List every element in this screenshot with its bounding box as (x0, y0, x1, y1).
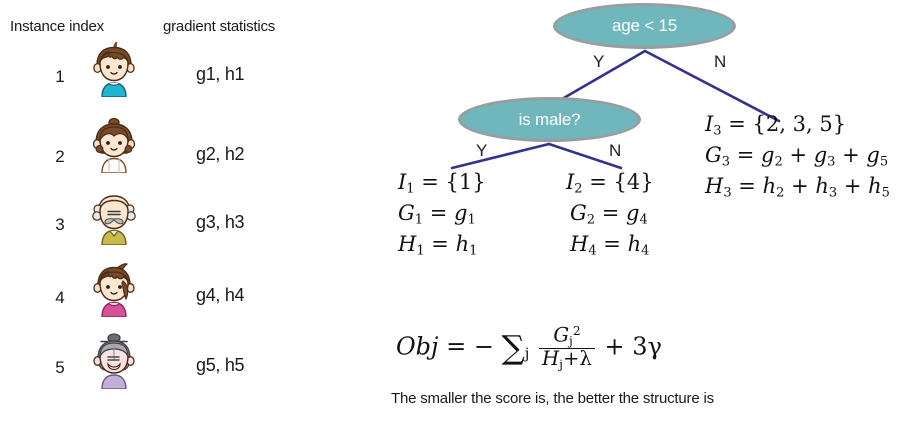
leaf-2-hessian-sum: H4 = h4 (570, 234, 649, 258)
girl-pink-shirt-avatar (86, 261, 142, 317)
tree-node-root-label: age < 15 (612, 16, 677, 36)
row-index-1: 1 (45, 67, 75, 87)
leaf-2-gradient-sum: G2 = g4 (570, 203, 648, 227)
leaf-3-g-terms: g2 + g3 + g5 (761, 143, 888, 167)
edge-label-child-no: N (609, 141, 621, 161)
leaf-3-instance-set: I3 = {2, 3, 5} (705, 114, 846, 138)
girl-apron-avatar (86, 117, 142, 173)
objective-formula: Obj = − ∑j Gj2 Hj+λ + 3γ (396, 325, 662, 371)
tree-node-is-male[interactable]: is male? (458, 97, 641, 142)
leaf-1-instance-set: I1 = {1} (398, 172, 486, 196)
leaf-1-hessian-sum: H1 = h1 (398, 234, 477, 258)
row-index-2: 2 (45, 147, 75, 167)
edge-label-root-no: N (714, 52, 726, 72)
old-woman-bun-avatar (86, 333, 142, 389)
tree-node-is-male-label: is male? (519, 110, 581, 130)
leaf-3-gradient-sum: G3 = g2 + g3 + g5 (705, 145, 888, 169)
objective-caption: The smaller the score is, the better the… (391, 390, 714, 407)
edge-label-child-yes: Y (476, 141, 487, 161)
old-man-mustache-avatar (86, 189, 142, 245)
leaf-3-hessian-sum: H3 = h2 + h3 + h5 (705, 176, 890, 200)
row-stats-3: g3, h3 (196, 212, 244, 233)
row-index-5: 5 (45, 358, 75, 378)
boy-cyan-shirt-avatar (86, 41, 142, 97)
row-stats-4: g4, h4 (196, 285, 244, 306)
tree-node-root[interactable]: age < 15 (553, 3, 736, 49)
row-index-3: 3 (45, 215, 75, 235)
row-stats-5: g5, h5 (196, 355, 244, 376)
column-header-gradient-statistics: gradient statistics (163, 18, 275, 35)
row-stats-1: g1, h1 (196, 64, 244, 85)
row-stats-2: g2, h2 (196, 144, 244, 165)
leaf-2-instance-set: I2 = {4} (566, 172, 654, 196)
edge-label-root-yes: Y (593, 52, 604, 72)
leaf-1-gradient-sum: G1 = g1 (398, 203, 476, 227)
leaf-3-h-terms: h2 + h3 + h5 (763, 174, 890, 198)
column-header-instance-index: Instance index (10, 18, 104, 35)
row-index-4: 4 (45, 288, 75, 308)
